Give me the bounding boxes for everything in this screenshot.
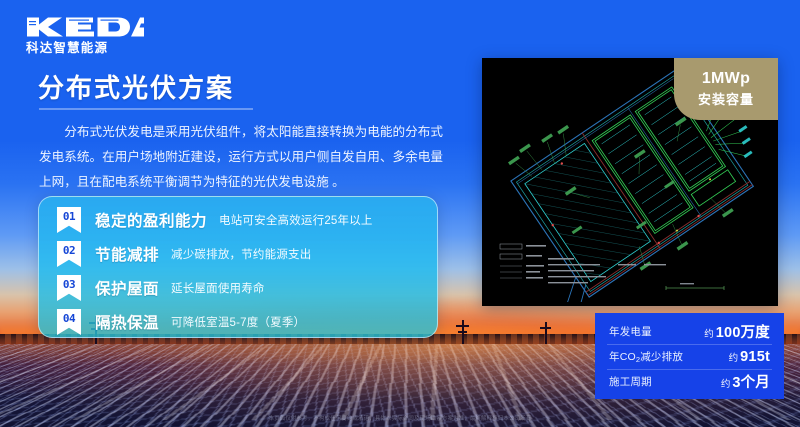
benefit-desc: 可降低室温5-7度（夏季）	[171, 314, 305, 330]
footer-disclaimer: 本页面仅供参考，不构成任何要约或承诺，具体以实际合同及现场勘察方案为准，最终解释…	[0, 414, 800, 422]
slide-root: 科达智慧能源 分布式光伏方案 分布式光伏发电是采用光伏组件，将太阳能直接转换为电…	[0, 0, 800, 427]
metric-label-text: 施工周期	[609, 376, 652, 388]
brand-logo[interactable]: 科达智慧能源	[26, 14, 156, 55]
capacity-value: 1MWp	[702, 70, 750, 88]
benefit-title: 隔热保温	[95, 311, 159, 333]
metric-approx: 约	[721, 376, 731, 390]
transmission-tower-icon	[456, 320, 470, 344]
cad-scale-bar	[666, 283, 724, 290]
number-badge-icon: 03	[57, 275, 81, 301]
number-badge-icon: 02	[57, 241, 81, 267]
benefit-item[interactable]: 02 节能减排 减少碳排放，节约能源支出	[57, 241, 425, 267]
metric-value: 约 915t	[729, 349, 770, 365]
benefit-number: 02	[57, 244, 81, 257]
metric-approx: 约	[704, 326, 714, 340]
intro-paragraph: 分布式光伏发电是采用光伏组件，将太阳能直接转换为电能的分布式发电系统。在用户场地…	[39, 120, 443, 196]
benefit-number: 04	[57, 312, 81, 325]
brand-sub-label: 科达智慧能源	[26, 42, 156, 55]
metric-label: 年发电量	[609, 324, 652, 339]
metric-label: 年CO2减少排放	[609, 349, 683, 364]
metric-row: 年发电量 约 100万度	[595, 319, 784, 344]
cad-legend	[500, 244, 546, 279]
metric-label-subscript: 2	[636, 355, 640, 364]
title-underline	[39, 108, 253, 110]
benefit-desc: 延长屋面使用寿命	[171, 280, 265, 296]
benefit-number: 03	[57, 278, 81, 291]
benefit-title: 保护屋面	[95, 277, 159, 299]
metric-label: 施工周期	[609, 374, 652, 389]
benefit-item[interactable]: 01 稳定的盈利能力 电站可安全高效运行25年以上	[57, 207, 425, 233]
metric-number: 915t	[740, 349, 770, 365]
metric-row: 年CO2减少排放 约 915t	[595, 344, 784, 369]
metric-label-text-post: 减少排放	[640, 351, 683, 363]
key-metrics-panel: 年发电量 约 100万度 年CO2减少排放 约 915t 施工周期 约 3个月	[595, 313, 784, 399]
benefit-desc: 电站可安全高效运行25年以上	[219, 212, 373, 228]
number-badge-icon: 04	[57, 309, 81, 335]
benefits-panel: 01 稳定的盈利能力 电站可安全高效运行25年以上 02 节能减排 减少碳排放，…	[38, 196, 438, 338]
keda-wordmark-icon	[26, 14, 144, 40]
benefit-number: 01	[57, 210, 81, 223]
installed-capacity-badge: 1MWp 安装容量	[674, 58, 778, 120]
number-badge-icon: 01	[57, 207, 81, 233]
metric-number: 3个月	[732, 371, 770, 392]
cad-site-plan-image[interactable]: 1MWp 安装容量	[482, 58, 778, 306]
page-title: 分布式光伏方案	[38, 74, 234, 103]
metric-label-text: 年发电量	[609, 326, 652, 338]
benefit-item[interactable]: 03 保护屋面 延长屋面使用寿命	[57, 275, 425, 301]
capacity-label: 安装容量	[698, 89, 754, 108]
transmission-tower-icon	[540, 322, 552, 344]
metric-value: 约 100万度	[704, 321, 770, 342]
metric-approx: 约	[729, 350, 739, 364]
benefit-title: 稳定的盈利能力	[95, 209, 207, 231]
metric-number: 100万度	[716, 321, 770, 342]
benefit-title: 节能减排	[95, 243, 159, 265]
metric-value: 约 3个月	[721, 371, 770, 392]
metric-label-text: 年CO	[609, 351, 636, 363]
benefit-item[interactable]: 04 隔热保温 可降低室温5-7度（夏季）	[57, 309, 425, 335]
metric-row: 施工周期 约 3个月	[595, 369, 784, 394]
benefit-desc: 减少碳排放，节约能源支出	[171, 246, 311, 262]
